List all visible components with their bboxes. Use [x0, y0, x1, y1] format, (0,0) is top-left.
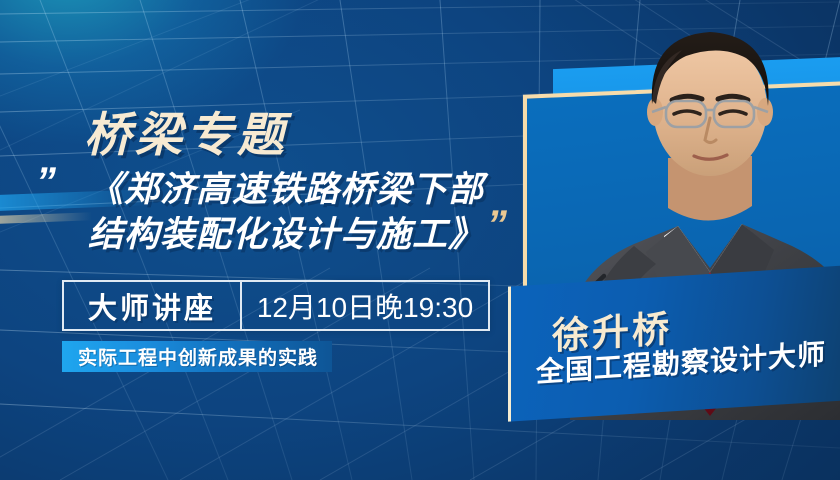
quote-close-mark: ” — [487, 205, 503, 245]
accent-band-left-gold — [0, 212, 92, 224]
poster-kicker: 桥梁专题 — [84, 96, 288, 165]
poster-book-title: 《郑济高速铁路桥梁下部 结构装配化设计与施工》 — [88, 168, 508, 258]
lecture-subtitle-label: 实际工程中创新成果的实践 — [78, 343, 318, 370]
lecture-poster: 徐升桥 全国工程勘察设计大师 桥梁专题 ” 《郑济高速铁路桥梁下部 结构装配化设… — [0, 0, 840, 480]
lecture-datetime-label: 12月10日晚19:30 — [257, 286, 473, 326]
lecture-type-label: 大师讲座 — [88, 285, 216, 327]
lecture-datetime-cell: 12月10日晚19:30 — [242, 282, 488, 329]
quote-open-mark: ” — [36, 162, 52, 202]
speaker-nameplate-text: 徐升桥 全国工程勘察设计大师 — [508, 265, 840, 421]
lecture-type-cell: 大师讲座 — [64, 282, 242, 329]
lecture-subtitle-badge: 实际工程中创新成果的实践 — [62, 341, 332, 372]
lecture-info-bar: 大师讲座 12月10日晚19:30 — [62, 280, 490, 331]
